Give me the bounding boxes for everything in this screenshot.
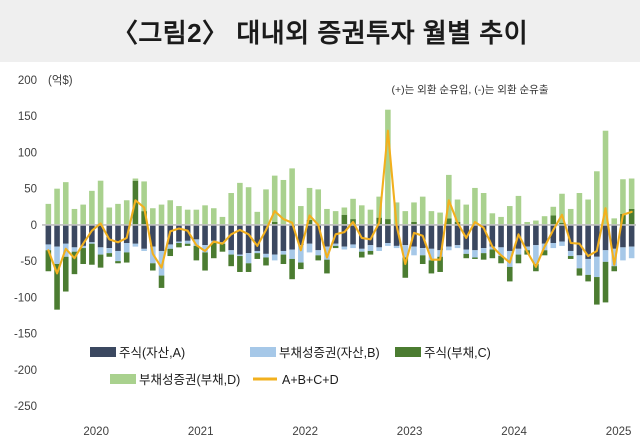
bar-segment-debt_liability: [411, 202, 417, 222]
bar-segment-equity_liability: [98, 255, 104, 268]
bar-segment-debt_asset: [385, 243, 391, 246]
bar-segment-debt_liability: [620, 179, 626, 214]
bar-segment-debt_liability: [542, 216, 548, 225]
y-axis-unit-label: (억$): [48, 74, 73, 87]
legend-item: A+B+C+D: [253, 373, 339, 387]
bar-segment-equity_asset: [307, 225, 313, 244]
bar-segment-debt_asset: [446, 247, 452, 251]
bar-segment-equity_asset: [246, 225, 252, 253]
bar-segment-equity_liability: [246, 263, 252, 272]
bar-segment-equity_liability: [315, 255, 321, 260]
chart-annotation: (+)는 외환 순유입, (-)는 외환 순유출: [391, 83, 548, 96]
bar-segment-debt_liability: [115, 204, 121, 225]
bar-segment-equity_liability: [342, 215, 348, 225]
bar-segment-debt_liability: [63, 182, 69, 225]
bar-segment-debt_asset: [577, 255, 583, 268]
bar-segment-debt_asset: [368, 245, 374, 251]
bar-segment-debt_asset: [307, 244, 313, 253]
bar-segment-equity_asset: [524, 225, 530, 247]
bar-segment-equity_liability: [551, 215, 557, 224]
bar-segment-equity_liability: [577, 268, 583, 275]
bar-segment-equity_asset: [281, 225, 287, 251]
bar-segment-debt_asset: [54, 247, 60, 264]
y-axis-tick-label: -50: [20, 256, 37, 268]
bar-segment-debt_liability: [333, 211, 339, 225]
bar-segment-equity_liability: [298, 263, 304, 270]
bar-segment-equity_liability: [185, 244, 191, 246]
bar-segment-debt_liability: [507, 206, 513, 225]
bar-segment-equity_asset: [202, 225, 208, 245]
bar-segment-equity_liability: [481, 253, 487, 260]
legend-color-swatch: [90, 347, 116, 357]
bar-segment-debt_liability: [133, 179, 139, 181]
bar-segment-debt_asset: [420, 248, 426, 255]
bar-segment-debt_liability: [124, 200, 130, 225]
bar-segment-equity_asset: [324, 225, 330, 247]
bar-segment-debt_liability: [403, 211, 409, 225]
legend-label: 주식(자산,A): [119, 346, 185, 360]
bar-segment-debt_asset: [176, 242, 182, 243]
bar-segment-debt_asset: [289, 250, 295, 259]
bar-segment-equity_liability: [176, 243, 182, 247]
bar-segment-debt_liability: [490, 213, 496, 225]
bar-segment-equity_liability: [594, 277, 600, 305]
bar-segment-equity_asset: [507, 225, 513, 251]
bar-segment-debt_asset: [585, 259, 591, 275]
bar-segment-debt_liability: [107, 208, 113, 225]
bar-segment-equity_liability: [324, 260, 330, 274]
bar-segment-equity_liability: [107, 253, 113, 257]
y-axis-tick-label: -250: [14, 401, 37, 413]
chart-canvas: 200150100500-50-100-150-200-250(억$)(+)는 …: [0, 62, 640, 439]
bar-segment-debt_asset: [568, 251, 574, 256]
bar-segment-debt_asset: [629, 247, 635, 259]
bar-segment-equity_liability: [603, 262, 609, 303]
bar-segment-debt_liability: [46, 204, 52, 225]
bar-segment-equity_liability: [202, 252, 208, 270]
bar-segment-equity_asset: [272, 225, 278, 255]
bar-segment-debt_liability: [368, 210, 374, 225]
bar-segment-debt_asset: [481, 248, 487, 253]
bar-segment-equity_asset: [342, 225, 348, 247]
bar-segment-debt_asset: [315, 250, 321, 255]
bar-segment-equity_liability: [220, 244, 226, 252]
page-title: 〈그림2〉 대내외 증권투자 월별 추이: [112, 13, 528, 50]
legend-color-swatch: [250, 347, 276, 357]
bar-segment-equity_asset: [255, 225, 261, 251]
legend-item: 부채성증권(부채,D): [110, 373, 240, 387]
x-axis-tick-label: 2022: [292, 426, 318, 438]
bar-segment-equity_asset: [559, 225, 565, 242]
bar-segment-debt_liability: [568, 209, 574, 225]
bar-segment-equity_liability: [89, 244, 95, 265]
bar-segment-debt_asset: [333, 244, 339, 246]
bar-segment-equity_asset: [577, 225, 583, 255]
bar-segment-debt_liability: [551, 207, 557, 216]
bar-segment-debt_liability: [611, 218, 617, 225]
bar-segment-equity_asset: [194, 225, 200, 239]
bar-segment-debt_liability: [577, 193, 583, 225]
legend-label: 주식(부채,C): [424, 346, 491, 360]
bar-segment-debt_liability: [516, 196, 522, 225]
bar-segment-debt_asset: [255, 251, 261, 253]
bar-segment-debt_asset: [263, 254, 269, 258]
bar-segment-debt_liability: [298, 206, 304, 225]
bar-segment-debt_liability: [324, 209, 330, 225]
bar-segment-debt_liability: [237, 183, 243, 225]
bar-segment-debt_liability: [176, 206, 182, 225]
bar-segment-debt_asset: [115, 251, 121, 261]
bar-segment-debt_asset: [228, 250, 234, 254]
bar-segment-debt_liability: [472, 188, 478, 225]
bar-segment-debt_liability: [54, 189, 60, 225]
bar-segment-equity_liability: [194, 246, 200, 260]
bar-segment-equity_liability: [263, 257, 269, 265]
legend-label: A+B+C+D: [282, 373, 339, 387]
bar-segment-debt_asset: [472, 250, 478, 257]
y-axis-tick-label: 100: [18, 147, 37, 159]
bar-segment-equity_liability: [420, 255, 426, 264]
bar-segment-debt_asset: [98, 247, 104, 254]
bar-segment-debt_asset: [559, 242, 565, 246]
bar-segment-equity_liability: [472, 257, 478, 258]
bar-segment-debt_liability: [228, 193, 234, 225]
bar-segment-debt_asset: [594, 257, 600, 277]
bar-segment-debt_asset: [394, 246, 400, 248]
bar-segment-debt_asset: [350, 244, 356, 248]
legend-color-swatch: [395, 347, 421, 357]
bar-segment-equity_liability: [80, 248, 86, 264]
bar-segment-debt_liability: [463, 205, 469, 225]
legend-color-swatch: [110, 374, 136, 384]
bar-segment-debt_liability: [437, 213, 443, 225]
bar-segment-equity_liability: [516, 255, 522, 264]
bar-segment-debt_liability: [194, 210, 200, 225]
bar-segment-equity_liability: [385, 219, 391, 225]
bar-segment-equity_asset: [211, 225, 217, 241]
bar-segment-debt_asset: [455, 245, 461, 248]
bar-segment-debt_asset: [411, 247, 417, 256]
bar-segment-equity_asset: [63, 225, 69, 244]
bar-segment-equity_liability: [429, 260, 435, 273]
bar-segment-equity_asset: [220, 225, 226, 242]
x-axis-tick-label: 2020: [83, 426, 109, 438]
bar-segment-debt_liability: [263, 189, 269, 225]
bar-segment-debt_liability: [594, 171, 600, 225]
bar-segment-equity_liability: [507, 267, 513, 281]
bar-segment-equity_asset: [629, 225, 635, 247]
legend-label: 부채성증권(자산,B): [279, 346, 380, 360]
bar-segment-debt_asset: [89, 242, 95, 243]
bar-segment-equity_liability: [211, 243, 217, 258]
y-axis-tick-label: -200: [14, 365, 37, 377]
bar-segment-debt_asset: [246, 253, 252, 263]
bar-segment-equity_asset: [115, 225, 121, 251]
bar-segment-equity_liability: [333, 246, 339, 248]
x-axis-tick-label: 2021: [188, 426, 214, 438]
bar-segment-debt_liability: [185, 210, 191, 225]
bar-segment-equity_liability: [115, 261, 121, 263]
y-axis-tick-label: 50: [24, 184, 37, 196]
bar-segment-debt_asset: [376, 247, 382, 251]
bar-segment-debt_asset: [620, 247, 626, 260]
bar-segment-equity_asset: [385, 225, 391, 243]
bar-segment-equity_asset: [403, 225, 409, 245]
bar-segment-debt_liability: [420, 197, 426, 225]
x-axis-tick-label: 2025: [606, 426, 632, 438]
bar-segment-debt_asset: [237, 255, 243, 256]
legend-item: 주식(부채,C): [395, 346, 491, 360]
bar-segment-debt_asset: [281, 251, 287, 255]
bar-segment-debt_asset: [133, 244, 139, 247]
bar-segment-equity_asset: [446, 225, 452, 247]
bar-segment-equity_liability: [368, 251, 374, 255]
bar-segment-debt_liability: [315, 189, 321, 225]
bar-segment-debt_liability: [89, 191, 95, 225]
bar-segment-debt_asset: [185, 241, 191, 244]
bar-segment-equity_liability: [490, 250, 496, 259]
bar-segment-debt_liability: [350, 199, 356, 219]
y-axis-tick-label: -100: [14, 292, 37, 304]
bar-segment-debt_asset: [272, 255, 278, 261]
bar-segment-debt_asset: [107, 248, 113, 253]
bar-segment-equity_asset: [429, 225, 435, 249]
bar-segment-equity_asset: [498, 225, 504, 247]
x-axis-tick-label: 2023: [397, 426, 423, 438]
bar-segment-equity_liability: [611, 266, 617, 271]
bar-segment-debt_asset: [551, 243, 557, 248]
bar-segment-equity_asset: [46, 225, 52, 245]
bar-segment-equity_liability: [463, 254, 469, 258]
bar-segment-debt_liability: [585, 200, 591, 225]
bar-segment-debt_liability: [167, 200, 173, 225]
bar-segment-equity_asset: [350, 225, 356, 245]
bar-segment-equity_asset: [133, 225, 139, 244]
bar-segment-debt_liability: [289, 168, 295, 225]
bar-segment-debt_liability: [246, 187, 252, 225]
bar-segment-equity_liability: [159, 276, 165, 288]
bar-segment-equity_liability: [124, 252, 130, 262]
bar-segment-debt_asset: [359, 249, 365, 252]
bar-segment-debt_liability: [98, 181, 104, 225]
y-axis-tick-label: -150: [14, 329, 37, 341]
bar-segment-equity_asset: [159, 225, 165, 251]
bar-segment-debt_asset: [603, 250, 609, 262]
legend-item: 주식(자산,A): [90, 346, 185, 360]
bar-segment-equity_liability: [63, 257, 69, 292]
bar-segment-debt_liability: [385, 110, 391, 219]
bar-segment-debt_liability: [150, 208, 156, 225]
title-band: 〈그림2〉 대내외 증권투자 월별 추이: [0, 0, 640, 62]
bar-segment-debt_liability: [629, 179, 635, 209]
bar-segment-equity_liability: [150, 263, 156, 270]
bar-segment-debt_asset: [72, 247, 78, 251]
securities-investment-chart: 200150100500-50-100-150-200-250(억$)(+)는 …: [0, 62, 640, 439]
legend-label: 부채성증권(부채,D): [139, 373, 240, 387]
bar-segment-debt_liability: [80, 205, 86, 225]
bar-segment-debt_liability: [202, 205, 208, 225]
bar-segment-debt_liability: [498, 217, 504, 225]
bar-segment-equity_liability: [281, 255, 287, 264]
bar-segment-equity_liability: [167, 249, 173, 256]
bar-segment-equity_liability: [255, 253, 261, 259]
bar-segment-debt_liability: [72, 209, 78, 225]
bar-segment-debt_liability: [255, 212, 261, 225]
bar-segment-debt_liability: [220, 217, 226, 225]
bar-segment-equity_liability: [228, 255, 234, 267]
y-axis-tick-label: 0: [31, 220, 37, 232]
bar-segment-equity_asset: [72, 225, 78, 247]
bar-segment-equity_asset: [54, 225, 60, 247]
bar-segment-debt_liability: [211, 208, 217, 225]
bar-segment-equity_asset: [533, 225, 539, 245]
bar-segment-debt_asset: [342, 247, 348, 250]
bar-segment-equity_liability: [585, 275, 591, 282]
bar-segment-equity_asset: [603, 225, 609, 250]
bar-segment-debt_liability: [359, 205, 365, 225]
bar-segment-debt_liability: [159, 205, 165, 225]
y-axis-tick-label: 150: [18, 111, 37, 123]
bar-segment-equity_liability: [289, 259, 295, 279]
x-axis-tick-label: 2024: [501, 426, 527, 438]
bar-segment-equity_asset: [176, 225, 182, 242]
bar-segment-equity_liability: [237, 256, 243, 272]
bar-segment-equity_liability: [359, 252, 365, 258]
bar-segment-debt_asset: [516, 249, 522, 255]
bar-segment-equity_asset: [472, 225, 478, 250]
bar-segment-debt_asset: [124, 243, 130, 252]
bar-segment-debt_asset: [463, 250, 469, 254]
y-axis-tick-label: 200: [18, 75, 37, 87]
legend-item: 부채성증권(자산,B): [250, 346, 380, 360]
bar-segment-equity_asset: [141, 225, 147, 249]
bar-segment-debt_liability: [342, 208, 348, 215]
bar-segment-debt_asset: [141, 249, 147, 251]
bar-segment-debt_liability: [481, 193, 487, 225]
bar-segment-equity_liability: [568, 256, 574, 259]
bar-segment-debt_asset: [167, 244, 173, 248]
bar-segment-debt_liability: [429, 211, 435, 225]
